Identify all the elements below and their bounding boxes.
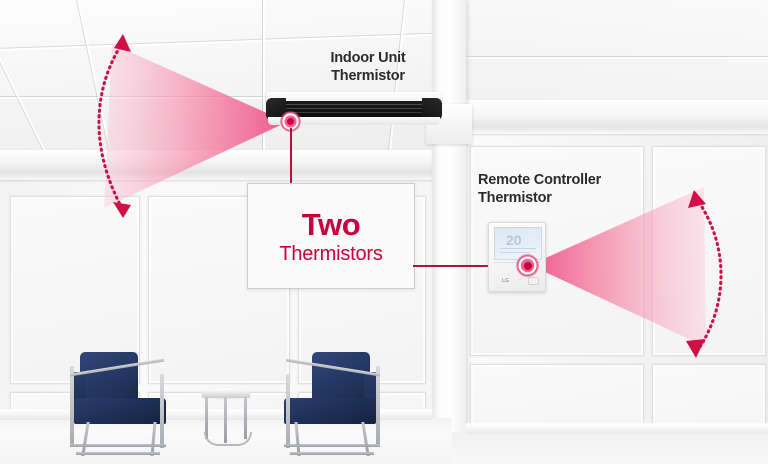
armchair-right — [268, 352, 386, 456]
callout-box-two-thermistors: Two Thermistors — [247, 183, 415, 289]
label-indoor-line2: Thermistor — [303, 68, 433, 86]
callout-headline: Two — [302, 209, 360, 240]
label-remote-controller-thermistor: Remote Controller Thermistor — [478, 172, 601, 207]
sensor-point-remote-icon[interactable] — [517, 255, 538, 276]
remote-display-screen: 20 — [494, 227, 542, 260]
label-indoor-line1: Indoor Unit — [303, 50, 433, 68]
label-indoor-unit-thermistor: Indoor Unit Thermistor — [303, 50, 433, 85]
armchair-left — [68, 352, 186, 456]
label-remote-line1: Remote Controller — [478, 172, 601, 190]
corner-pillar — [432, 0, 466, 464]
remote-button[interactable] — [528, 277, 539, 285]
remote-display-temperature: 20 — [506, 233, 522, 247]
brand-logo: LG — [502, 278, 509, 284]
floor-right — [452, 432, 768, 464]
baseboard-right — [466, 424, 768, 434]
sweep-arrow-arc-left-icon — [75, 26, 165, 226]
label-remote-line2: Thermistor — [478, 190, 601, 208]
crown-molding-right — [452, 100, 768, 134]
callout-subline: Thermistors — [279, 244, 382, 264]
lead-line-indoor — [290, 128, 292, 184]
remote-controller-device[interactable]: 20 LG — [488, 222, 546, 292]
thermistor-illustration-scene: Two Thermistors 20 LG — [0, 0, 768, 464]
side-table — [202, 388, 250, 446]
sweep-arrow-arc-right-icon — [672, 184, 752, 364]
